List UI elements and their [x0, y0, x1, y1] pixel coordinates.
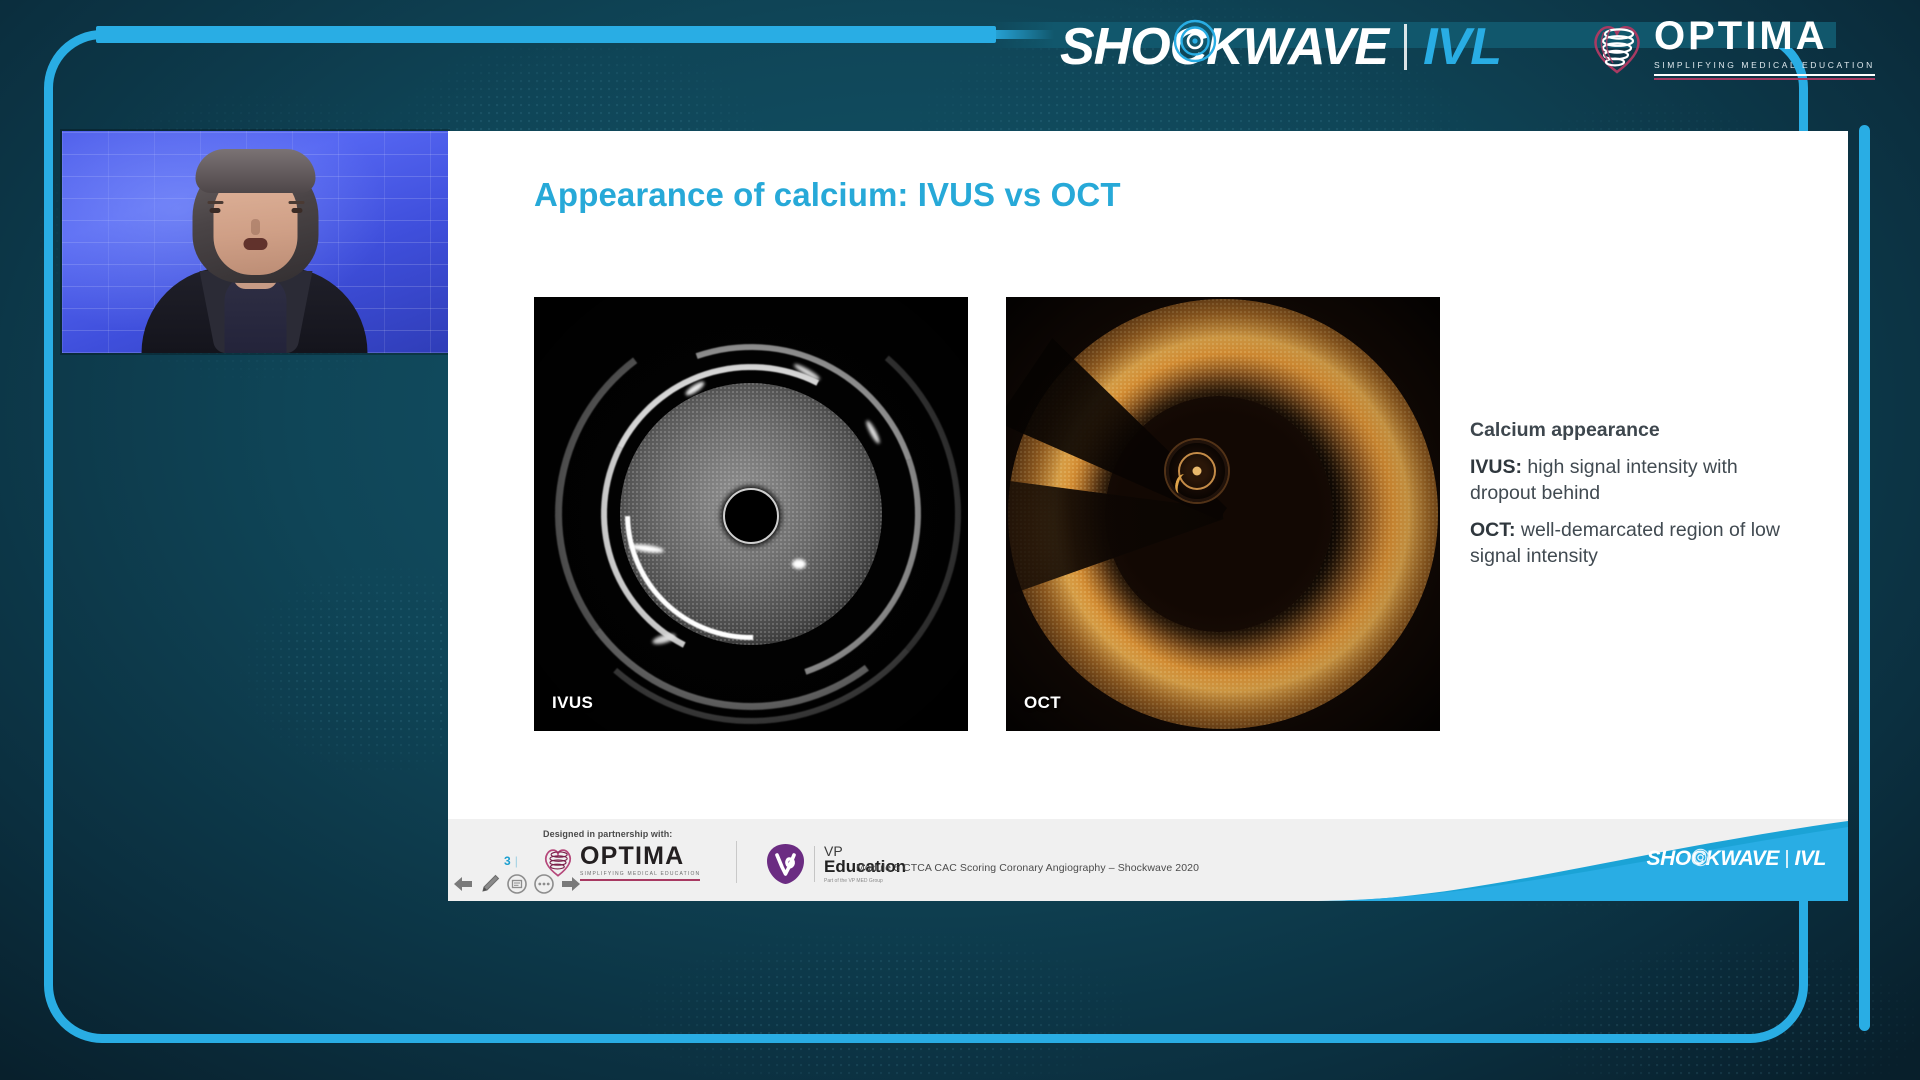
ivus-image-label: IVUS	[552, 693, 593, 713]
shockwave-ivl-logo: SHOCKWAVE IVL	[1060, 16, 1501, 78]
notes-circle-icon[interactable]	[506, 873, 528, 895]
footer-logo-divider-line	[1786, 850, 1788, 868]
notes-term-oct: OCT:	[1470, 519, 1516, 541]
slide-canvas: Appearance of calcium: IVUS vs OCT IVUS	[448, 131, 1848, 901]
oct-image: OCT	[1006, 297, 1440, 731]
notes-heading: Calcium appearance	[1470, 418, 1790, 444]
logo-divider	[1404, 24, 1407, 70]
pencil-icon[interactable]	[479, 873, 501, 895]
presenter-video[interactable]	[62, 131, 448, 353]
notes-term-ivus: IVUS:	[1470, 456, 1522, 478]
footer-ivl-wordmark: IVL	[1795, 847, 1826, 871]
optima-heart-coil-icon	[1588, 20, 1646, 76]
notes-item-oct: OCT: well-demarcated region of low signa…	[1470, 518, 1790, 570]
footer-shockwave-wordmark: SHOCKWAVE	[1646, 847, 1779, 871]
oct-image-label: OCT	[1024, 693, 1061, 713]
designed-in-partnership-label: Designed in partnership with:	[543, 829, 672, 839]
optima-tagline: SIMPLIFYING MEDICAL EDUCATION	[1654, 60, 1875, 70]
header-accent-bar	[96, 26, 996, 43]
optima-rule-white	[1654, 74, 1875, 76]
footer-shockwave-ivl-logo: SHOCKWAVE IVL	[1646, 847, 1826, 871]
arrow-right-icon[interactable]	[560, 873, 582, 895]
footer-optima-tagline: SIMPLIFYING MEDICAL EDUCATION	[580, 871, 700, 877]
vp-divider	[814, 846, 815, 882]
page-number: 3	[504, 854, 511, 868]
optima-wordmark: OPTIMA	[1654, 16, 1875, 56]
vp-line-3: Part of the VP MED Group	[824, 879, 906, 884]
slide-title: Appearance of calcium: IVUS vs OCT	[534, 176, 1121, 214]
arrow-left-icon[interactable]	[452, 873, 474, 895]
annotation-toolbar[interactable]	[452, 873, 582, 895]
ivl-wordmark: IVL	[1423, 21, 1501, 73]
right-accent-rail	[1859, 125, 1870, 1031]
footer-shockwave-rings-icon	[1691, 848, 1710, 867]
footer-optima-rule	[580, 879, 700, 881]
ellipsis-circle-icon[interactable]	[533, 873, 555, 895]
ivus-image: IVUS	[534, 297, 968, 731]
optima-logo: OPTIMA SIMPLIFYING MEDICAL EDUCATION	[1588, 12, 1868, 84]
notes-text-oct: well-demarcated region of low signal int…	[1470, 519, 1780, 567]
page-separator: |	[515, 854, 518, 868]
notes-item-ivus: IVUS: high signal intensity with dropout…	[1470, 455, 1790, 507]
shockwave-wordmark: SHOCKWAVE	[1060, 21, 1388, 73]
slide-footer: Designed in partnership with: OPTIMA SIM…	[448, 819, 1848, 901]
optima-rule-magenta	[1654, 78, 1875, 80]
page-indicator: 3|	[504, 854, 518, 868]
footer-optima-wordmark: OPTIMA	[580, 844, 700, 869]
vp-shield-icon	[766, 843, 805, 885]
vp-line-1: VP	[824, 844, 906, 859]
module-caption: Module 5 CTCA CAC Scoring Coronary Angio…	[856, 862, 1199, 874]
presenter-figure	[148, 157, 363, 353]
footer-logo-divider	[736, 841, 737, 883]
calcium-appearance-notes: Calcium appearance IVUS: high signal int…	[1470, 418, 1790, 581]
